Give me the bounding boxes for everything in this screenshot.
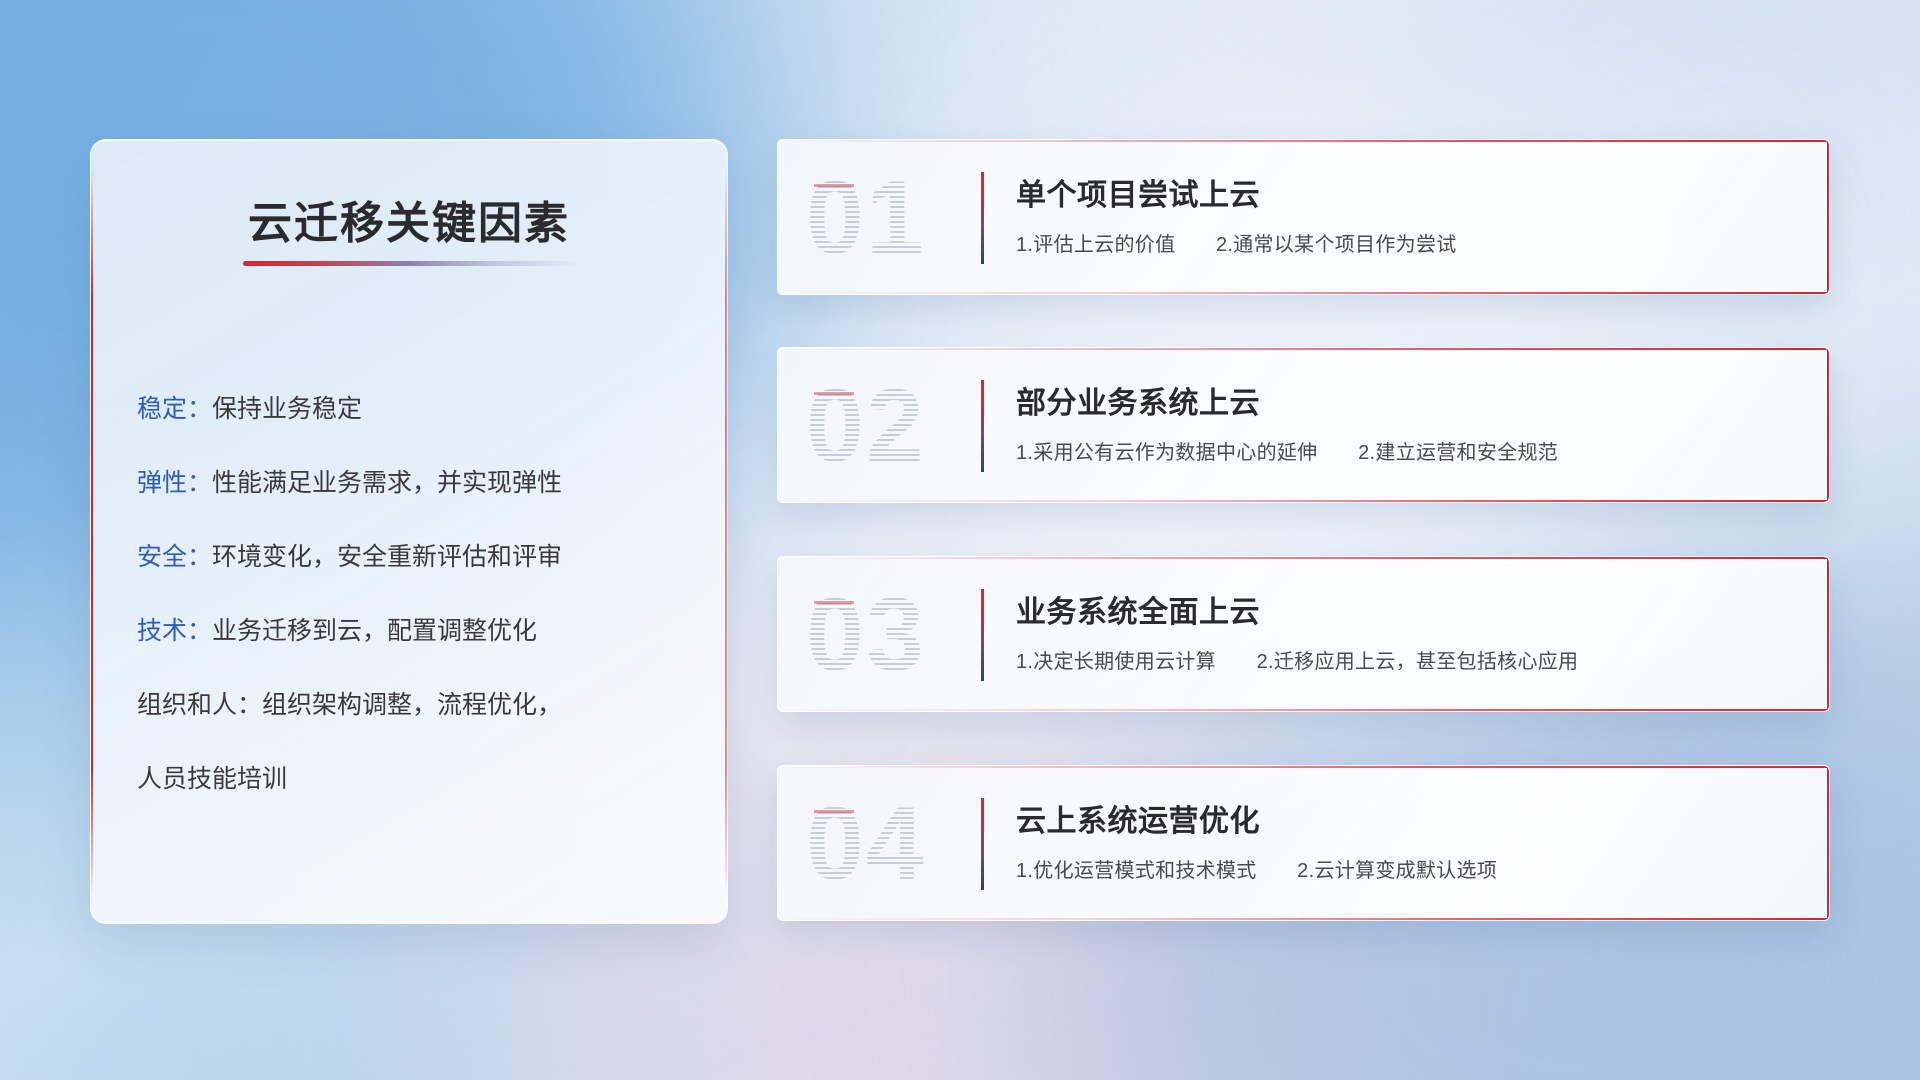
step-card-04[interactable]: 04 云上系统运营优化 1.优化运营模式和技术模式 2.云计算变成默认选项 xyxy=(777,765,1830,921)
step-card-01[interactable]: 01 单个项目尝试上云 1.评估上云的价值 2.通常以某个项目作为尝试 xyxy=(777,139,1830,295)
step-description: 1.决定长期使用云计算 2.迁移应用上云，甚至包括核心应用 xyxy=(1016,645,1578,674)
factor-text: 组织架构调整，流程优化， xyxy=(262,691,562,719)
card-right-accent xyxy=(1827,766,1829,920)
step-description: 1.优化运营模式和技术模式 2.云计算变成默认选项 xyxy=(1016,854,1497,883)
slide-stage: 云迁移关键因素 稳定：保持业务稳定 弹性：性能满足业务需求，并实现弹性 安全：环… xyxy=(0,0,1920,1080)
card-top-accent xyxy=(778,348,1829,350)
factor-key: 稳定： xyxy=(137,395,212,423)
page-title: 云迁移关键因素 xyxy=(91,187,727,251)
factor-text: 保持业务稳定 xyxy=(212,395,362,423)
card-top-accent xyxy=(778,766,1829,768)
factor-text: 业务迁移到云，配置调整优化 xyxy=(212,617,537,645)
card-bottom-accent xyxy=(778,918,1829,920)
list-item: 组织和人：组织架构调整，流程优化， xyxy=(137,668,687,742)
card-right-accent xyxy=(1827,348,1829,502)
key-factors-panel: 云迁移关键因素 稳定：保持业务稳定 弹性：性能满足业务需求，并实现弹性 安全：环… xyxy=(90,139,728,924)
factor-key: 组织和人： xyxy=(137,691,262,719)
step-number-watermark: 03 xyxy=(806,573,966,697)
step-divider xyxy=(981,798,984,890)
card-bottom-accent xyxy=(778,292,1829,294)
step-number-watermark: 02 xyxy=(806,364,966,488)
list-item: 安全：环境变化，安全重新评估和评审 xyxy=(137,520,687,594)
step-divider xyxy=(981,172,984,264)
step-number-accent-line xyxy=(814,601,854,604)
step-number-accent-line xyxy=(814,810,854,813)
factor-key: 弹性： xyxy=(137,469,212,497)
step-title: 部分业务系统上云 xyxy=(1016,378,1260,422)
step-description: 1.评估上云的价值 2.通常以某个项目作为尝试 xyxy=(1016,228,1457,257)
factor-key: 技术： xyxy=(137,617,212,645)
factor-text: 性能满足业务需求，并实现弹性 xyxy=(212,469,562,497)
factor-text: 人员技能培训 xyxy=(137,765,287,793)
step-number-accent-line xyxy=(814,392,854,395)
factor-text: 环境变化，安全重新评估和评审 xyxy=(212,543,562,571)
card-top-accent xyxy=(778,557,1829,559)
card-top-accent xyxy=(778,140,1829,142)
key-factors-list: 稳定：保持业务稳定 弹性：性能满足业务需求，并实现弹性 安全：环境变化，安全重新… xyxy=(137,372,687,816)
step-title: 单个项目尝试上云 xyxy=(1016,170,1260,214)
card-right-accent xyxy=(1827,557,1829,711)
step-divider xyxy=(981,380,984,472)
title-underline xyxy=(243,261,583,266)
step-title: 业务系统全面上云 xyxy=(1016,587,1260,631)
step-card-03[interactable]: 03 业务系统全面上云 1.决定长期使用云计算 2.迁移应用上云，甚至包括核心应… xyxy=(777,556,1830,712)
step-title: 云上系统运营优化 xyxy=(1016,796,1260,840)
list-item: 弹性：性能满足业务需求，并实现弹性 xyxy=(137,446,687,520)
card-bottom-accent xyxy=(778,500,1829,502)
factor-key: 安全： xyxy=(137,543,212,571)
list-item: 稳定：保持业务稳定 xyxy=(137,372,687,446)
step-number-accent-line xyxy=(814,184,854,187)
step-number-watermark: 04 xyxy=(806,782,966,906)
step-card-02[interactable]: 02 部分业务系统上云 1.采用公有云作为数据中心的延伸 2.建立运营和安全规范 xyxy=(777,347,1830,503)
list-item: 人员技能培训 xyxy=(137,742,687,816)
step-description: 1.采用公有云作为数据中心的延伸 2.建立运营和安全规范 xyxy=(1016,436,1558,465)
step-divider xyxy=(981,589,984,681)
card-right-accent xyxy=(1827,140,1829,294)
step-number-watermark: 01 xyxy=(806,156,966,280)
list-item: 技术：业务迁移到云，配置调整优化 xyxy=(137,594,687,668)
card-bottom-accent xyxy=(778,709,1829,711)
